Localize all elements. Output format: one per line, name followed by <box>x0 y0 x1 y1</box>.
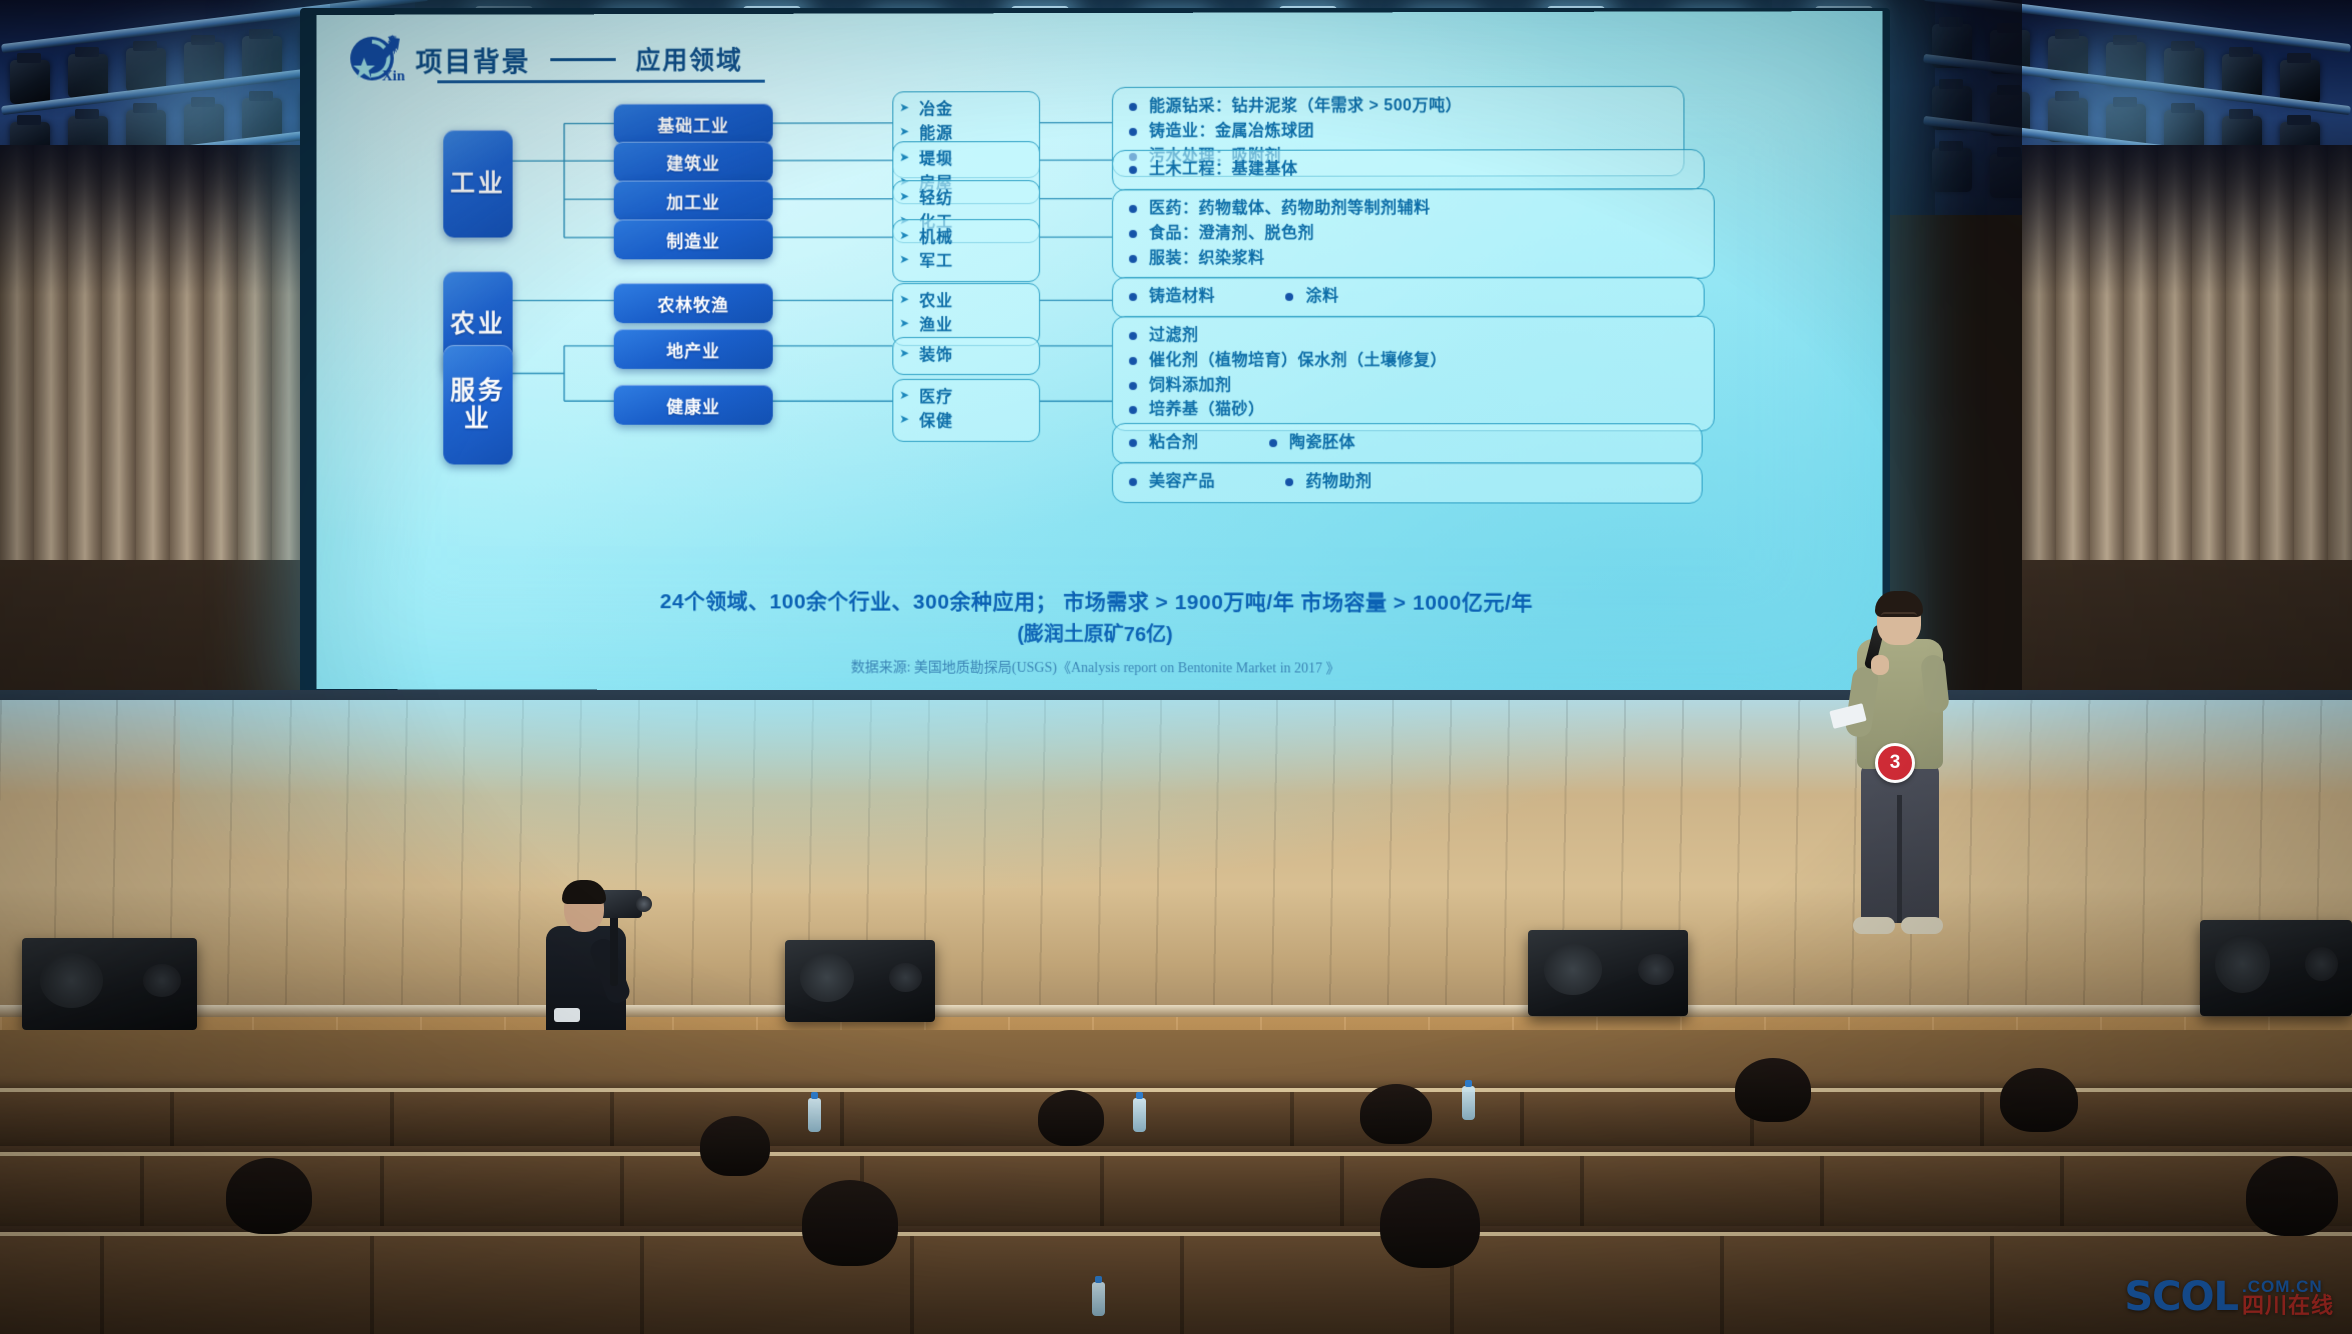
list-item: 能源钻采：钻井泥浆（年需求 > 500万吨） <box>1149 94 1673 120</box>
curtain-shadow-right <box>2022 145 2352 295</box>
list-item: 催化剂（植物培育）保水剂（土壤修复） <box>1149 349 1704 374</box>
presenter-shoe-right <box>1901 917 1943 934</box>
logo-cn-mark: 鑫林 <box>388 37 402 55</box>
list-item: 铸造业：金属冶炼球团 <box>1149 119 1673 145</box>
list-item: 陶瓷胚体 <box>1289 431 1355 456</box>
stage-monitor-speaker-center-left <box>785 940 935 1022</box>
node-health-label: 健康业 <box>666 392 720 417</box>
node-real-estate[interactable]: 地产业 <box>614 329 773 369</box>
list-item: 粘合剂 <box>1149 431 1199 456</box>
detail-agriculture[interactable]: 过滤剂 催化剂（植物培育）保水剂（土壤修复） 饲料添加剂 培养基（猫砂） <box>1112 316 1715 432</box>
list-item: 食品：澄清剂、脱色剂 <box>1149 221 1704 246</box>
audience-head <box>1038 1090 1104 1146</box>
presentation-slide: 鑫林 Xin 项目背景 应用领域 <box>317 11 1883 693</box>
stage-light-spill <box>180 700 1680 900</box>
group-realestate-fields[interactable]: 装饰 <box>892 337 1040 375</box>
list-item: 饲料添加剂 <box>1149 374 1704 399</box>
camera-lens-icon <box>636 896 652 912</box>
presenter-arm-right <box>1920 654 1950 714</box>
detail-health[interactable]: 美容产品 药物助剂 <box>1112 462 1703 503</box>
list-item: 过滤剂 <box>1149 324 1704 349</box>
presenter-figure: 3 <box>1835 595 1965 955</box>
node-basic-industry[interactable]: 基础工业 <box>614 104 773 144</box>
node-agri-forestry-fishery-label: 农林牧渔 <box>657 291 729 316</box>
list-item: 机械 <box>919 226 1039 250</box>
detail-processing[interactable]: 医药：药物载体、药物助剂等制剂辅料 食品：澄清剂、脱色剂 服装：织染浆料 <box>1112 188 1715 279</box>
slide-title: 项目背景 <box>416 40 531 79</box>
cameraman-badge <box>554 1008 580 1022</box>
list-item: 农业 <box>919 290 1039 314</box>
presenter-number-badge: 3 <box>1875 743 1915 783</box>
node-processing[interactable]: 加工业 <box>614 180 773 220</box>
node-manufacturing[interactable]: 制造业 <box>614 219 773 259</box>
node-services-label: 服务业 <box>443 377 512 433</box>
detail-manufacturing[interactable]: 铸造材料 涂料 <box>1112 277 1705 318</box>
list-item: 服装：织染浆料 <box>1149 246 1704 271</box>
list-item: 保健 <box>919 410 1039 434</box>
level4-column: 能源钻采：钻井泥浆（年需求 > 500万吨） 铸造业：金属冶炼球团 污水处理：吸… <box>1112 86 1755 87</box>
company-logo-icon: 鑫林 Xin <box>342 33 401 87</box>
slide-footer: 24个领域、100余个行业、300余种应用； 市场需求 > 1900万吨/年 市… <box>317 585 1883 679</box>
auditorium-scene: 鑫林 Xin 项目背景 应用领域 <box>0 0 2352 1334</box>
list-item: 美容产品 <box>1149 470 1215 495</box>
node-agri-forestry-fishery[interactable]: 农林牧渔 <box>614 283 773 323</box>
presenter-leg-split <box>1897 795 1902 923</box>
water-bottle <box>1462 1086 1475 1120</box>
water-bottle <box>1092 1282 1105 1316</box>
detail-realestate[interactable]: 粘合剂 陶瓷胚体 <box>1112 423 1703 464</box>
stage-monitor-speaker-left <box>22 938 197 1030</box>
seat-row <box>0 1232 2352 1334</box>
list-item: 轻纺 <box>919 187 1039 211</box>
watermark-domain: .COM.CN <box>2242 1278 2334 1295</box>
audience-head <box>226 1158 312 1234</box>
node-manufacturing-label: 制造业 <box>666 227 720 252</box>
list-item: 涂料 <box>1306 285 1339 310</box>
node-services[interactable]: 服务业 <box>443 345 512 464</box>
node-agriculture-label: 农业 <box>450 310 505 338</box>
watermark-brand: SCOL <box>2124 1274 2238 1320</box>
stage-monitor-speaker-center-right <box>1528 930 1688 1016</box>
watermark-logo: SCOL .COM.CN 四川在线 <box>2124 1274 2334 1320</box>
audience-head <box>2000 1068 2078 1132</box>
presenter-hand <box>1871 655 1889 675</box>
audience-seating <box>0 1030 2352 1334</box>
node-construction[interactable]: 建筑业 <box>614 142 773 182</box>
audience-head <box>1360 1084 1432 1144</box>
water-bottle <box>1133 1098 1146 1132</box>
summary-line-1: 24个领域、100余个行业、300余种应用； 市场需求 > 1900万吨/年 市… <box>317 585 1883 618</box>
node-health[interactable]: 健康业 <box>614 385 773 425</box>
list-item: 培养基（猫砂） <box>1149 398 1704 423</box>
list-item: 医药：药物载体、药物助剂等制剂辅料 <box>1149 196 1704 221</box>
presenter-glasses <box>1881 612 1917 622</box>
list-item: 渔业 <box>919 314 1039 338</box>
presenter-shoe-left <box>1853 917 1895 934</box>
data-source-note: 数据来源: 美国地质勘探局(USGS)《Analysis report on B… <box>317 655 1883 679</box>
node-industry-label: 工业 <box>450 170 505 198</box>
slide-subtitle: 应用领域 <box>636 41 743 77</box>
node-construction-label: 建筑业 <box>666 149 720 174</box>
list-item: 药物助剂 <box>1306 470 1372 495</box>
application-fields-diagram: 工业 农业 服务业 基础工业 建筑业 加工业 制造业 农林牧渔 地 <box>317 85 1883 582</box>
node-basic-industry-label: 基础工业 <box>657 111 729 136</box>
cameraman-hair <box>562 880 606 904</box>
water-bottle <box>808 1098 821 1132</box>
curtain-shadow-left <box>0 145 330 295</box>
group-manufacturing-fields[interactable]: 机械 军工 <box>892 219 1040 282</box>
audience-head <box>700 1116 770 1176</box>
list-item: 冶金 <box>919 98 1039 123</box>
list-item: 土木工程：基建基体 <box>1149 157 1694 183</box>
logo-latin-mark: Xin <box>382 68 405 85</box>
detail-construction[interactable]: 土木工程：基建基体 <box>1112 149 1705 191</box>
stage-monitor-speaker-right <box>2200 920 2352 1016</box>
node-real-estate-label: 地产业 <box>666 337 720 362</box>
audience-head <box>1380 1178 1480 1268</box>
group-health-fields[interactable]: 医疗 保健 <box>892 379 1040 442</box>
audience-head <box>2246 1156 2338 1236</box>
list-item: 军工 <box>919 250 1039 274</box>
header-underline <box>437 80 765 84</box>
list-item: 装饰 <box>919 344 1039 368</box>
node-processing-label: 加工业 <box>666 188 720 213</box>
summary-line-2: (膨润土原矿76亿) <box>317 616 1883 648</box>
audience-head <box>1735 1058 1811 1122</box>
title-divider-dash <box>550 58 615 61</box>
projection-screen: 鑫林 Xin 项目背景 应用领域 <box>317 11 1883 693</box>
audience-head <box>802 1180 898 1266</box>
list-item: 医疗 <box>919 386 1039 410</box>
node-industry[interactable]: 工业 <box>443 130 512 238</box>
list-item: 堤坝 <box>919 148 1039 172</box>
seat-row <box>0 1152 2352 1226</box>
list-item: 铸造材料 <box>1149 285 1215 310</box>
gimbal-handle <box>610 912 618 986</box>
watermark-chinese-name: 四川在线 <box>2242 1295 2334 1317</box>
